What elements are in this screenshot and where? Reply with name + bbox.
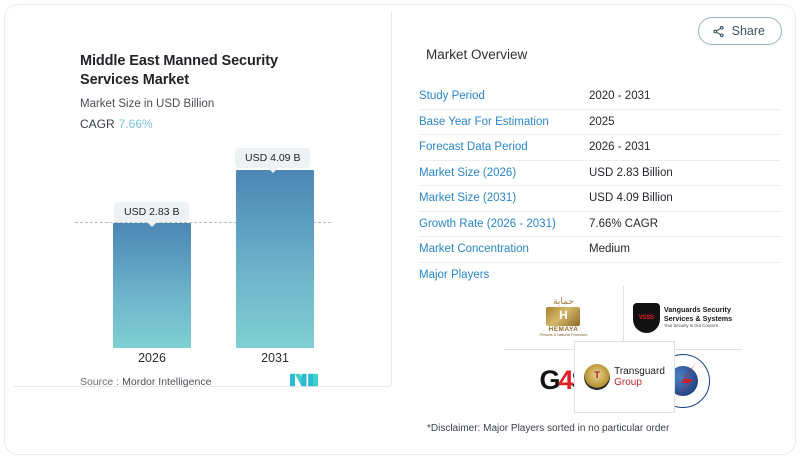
source-value: Mordor Intelligence (122, 376, 211, 388)
source-text: Source :Mordor Intelligence (80, 376, 211, 388)
table-row: Study Period 2020 - 2031 (419, 84, 781, 110)
row-value: 2025 (589, 116, 615, 128)
share-icon (712, 25, 725, 38)
mordor-intelligence-logo-icon (290, 372, 318, 388)
row-key: Major Players (419, 269, 589, 281)
source-label: Source : (80, 376, 119, 388)
hemaya-arabic: حماية (540, 297, 588, 306)
chart-panel: Middle East Manned Security Services Mar… (14, 12, 392, 387)
player-logo-transguard: Transguard Group (574, 341, 675, 413)
transguard-crest-icon (584, 364, 610, 390)
vanguards-badge-icon: VSSS (633, 303, 660, 333)
transguard-line2: Group (614, 377, 665, 389)
hemaya-mark-icon (546, 307, 580, 326)
bar-2031 (236, 170, 314, 348)
market-overview-table: Study Period 2020 - 2031 Base Year For E… (419, 84, 781, 287)
row-value: 7.66% CAGR (589, 218, 658, 230)
player-logo-hemaya: حماية HEMAYA Persons & National Protecti… (504, 286, 623, 349)
disclaimer-text: *Disclaimer: Major Players sorted in no … (427, 423, 669, 434)
row-value: 2026 - 2031 (589, 141, 650, 153)
bar-chart-plot: USD 2.83 B USD 4.09 B 2026 2031 (14, 12, 392, 387)
player-logo-vanguards: VSSS Vanguards Security Services & Syste… (623, 286, 742, 349)
table-row: Forecast Data Period 2026 - 2031 (419, 135, 781, 161)
table-row: Base Year For Estimation 2025 (419, 110, 781, 136)
x-axis-label-2031: 2031 (236, 351, 314, 365)
share-button[interactable]: Share (698, 17, 782, 45)
table-row: Market Concentration Medium (419, 237, 781, 263)
table-row: Market Size (2026) USD 2.83 Billion (419, 161, 781, 187)
overview-title: Market Overview (426, 47, 527, 62)
row-key: Market Concentration (419, 243, 589, 255)
vanguards-tagline: Your Security Is Our Concern (664, 324, 732, 329)
bar-label-2031: USD 4.09 B (235, 148, 310, 168)
market-overview-page: Share Middle East Manned Security Servic… (0, 0, 800, 459)
row-value: USD 4.09 Billion (589, 192, 673, 204)
row-key: Forecast Data Period (419, 141, 589, 153)
row-value: 2020 - 2031 (589, 90, 650, 102)
hemaya-tagline: Persons & National Protection (540, 334, 588, 338)
g4s-g: G (539, 365, 558, 395)
bar-label-2026: USD 2.83 B (114, 202, 189, 222)
row-key: Market Size (2031) (419, 192, 589, 204)
row-value: USD 2.83 Billion (589, 167, 673, 179)
table-row: Growth Rate (2026 - 2031) 7.66% CAGR (419, 212, 781, 238)
g4s-4: 4 (558, 365, 571, 395)
row-value: Medium (589, 243, 630, 255)
x-axis-label-2026: 2026 (113, 351, 191, 365)
row-key: Market Size (2026) (419, 167, 589, 179)
table-row: Market Size (2031) USD 4.09 Billion (419, 186, 781, 212)
bar-2026 (113, 223, 191, 348)
table-row-major-players: Major Players (419, 263, 781, 287)
vanguards-line2: Services & Systems (664, 315, 732, 323)
row-key: Study Period (419, 90, 589, 102)
vanguards-badge-text: VSSS (639, 315, 654, 321)
transguard-line1: Transguard (614, 366, 665, 378)
share-button-label: Share (732, 24, 765, 38)
row-key: Growth Rate (2026 - 2031) (419, 218, 589, 230)
row-key: Base Year For Estimation (419, 116, 589, 128)
